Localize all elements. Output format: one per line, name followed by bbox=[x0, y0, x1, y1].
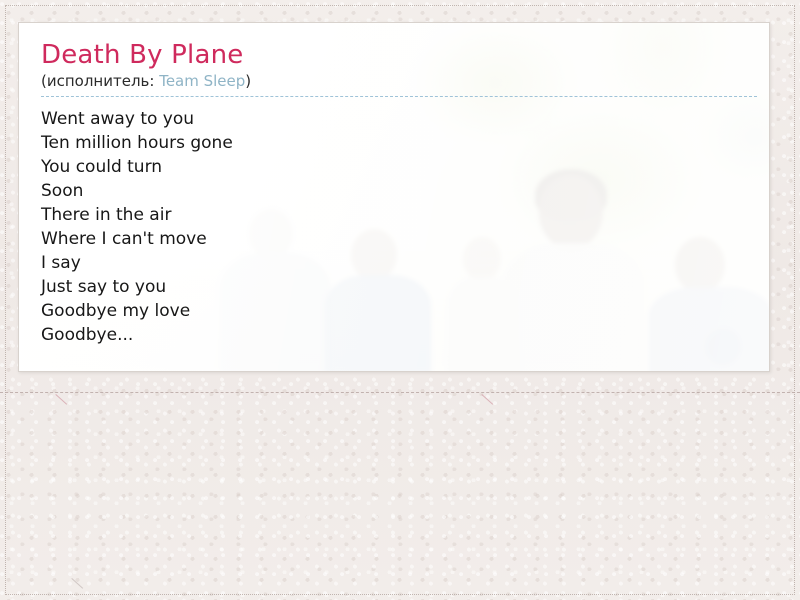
lyric-line: Ten million hours gone bbox=[41, 131, 747, 155]
artist-line: (исполнитель: Team Sleep) bbox=[41, 71, 757, 97]
slide-content: Death By Plane (исполнитель: Team Sleep)… bbox=[19, 23, 769, 347]
lyrics-block: Went away to youTen million hours goneYo… bbox=[41, 107, 747, 347]
artist-suffix-label: ) bbox=[245, 72, 251, 90]
lyric-line: There in the air bbox=[41, 203, 747, 227]
lyric-line: You could turn bbox=[41, 155, 747, 179]
lyric-line: Went away to you bbox=[41, 107, 747, 131]
guide-line bbox=[0, 392, 800, 393]
lyric-line: I say bbox=[41, 251, 747, 275]
artist-link[interactable]: Team Sleep bbox=[159, 72, 245, 90]
song-title: Death By Plane bbox=[41, 41, 747, 70]
lyric-line: Soon bbox=[41, 179, 747, 203]
lyric-line: Just say to you bbox=[41, 275, 747, 299]
lyric-line: Goodbye... bbox=[41, 323, 747, 347]
artist-prefix-label: (исполнитель: bbox=[41, 72, 159, 90]
lyric-line: Goodbye my love bbox=[41, 299, 747, 323]
lyric-line: Where I can't move bbox=[41, 227, 747, 251]
slide-panel: Death By Plane (исполнитель: Team Sleep)… bbox=[18, 22, 770, 372]
